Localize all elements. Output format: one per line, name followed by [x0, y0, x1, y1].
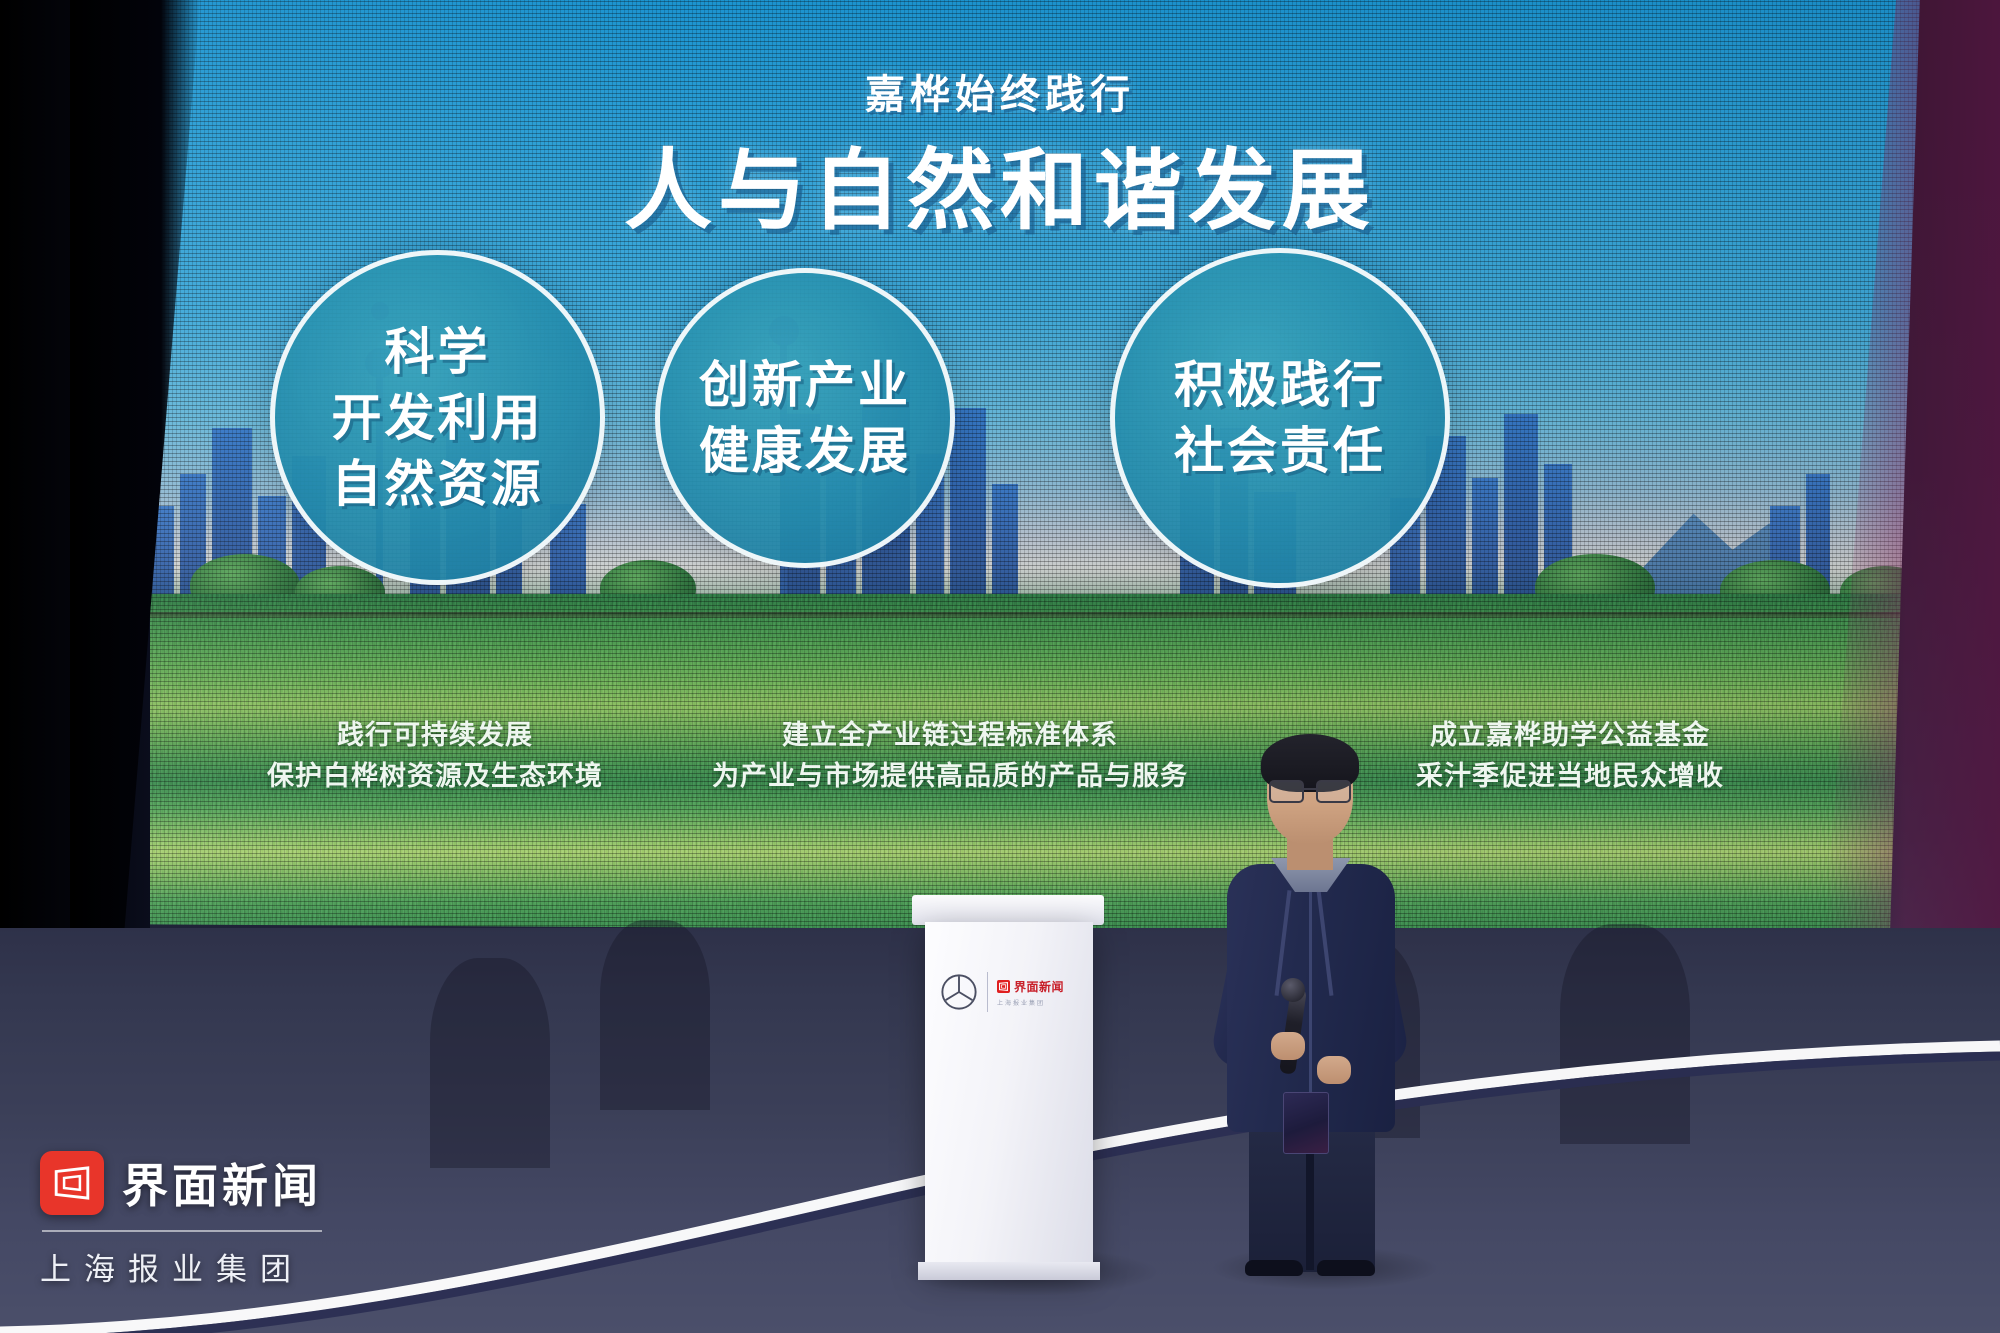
caption-2-line-1: 建立全产业链过程标准体系 — [690, 715, 1210, 756]
caption-charity: 成立嘉桦助学公益基金 采汁季促进当地民众增收 — [1360, 715, 1780, 796]
watermark: 界面新闻 上海报业集团 — [40, 1150, 322, 1289]
caption-1-line-1: 践行可持续发展 — [225, 715, 645, 756]
circle-1-line-2: 开发利用 — [332, 385, 544, 451]
glasses-icon — [1269, 780, 1351, 800]
slide-kicker: 嘉桦始终践行 — [0, 62, 2000, 120]
podium-base — [918, 1262, 1100, 1280]
podium-logo-group: 界面新闻 上海报业集团 — [940, 962, 1080, 1022]
caption-standards: 建立全产业链过程标准体系 为产业与市场提供高品质的产品与服务 — [690, 715, 1210, 796]
circle-1-line-1: 科学 — [385, 319, 491, 385]
circle-2-line-1: 创新产业 — [699, 352, 911, 418]
speaker-leg-gap — [1306, 1140, 1314, 1270]
jiemian-logo-icon — [997, 980, 1010, 993]
circle-1-line-3: 自然资源 — [332, 451, 544, 517]
podium-jiemian-logo: 界面新闻 上海报业集团 — [997, 978, 1064, 1007]
watermark-name: 界面新闻 — [122, 1150, 322, 1216]
lanyard-badge-icon — [1283, 1092, 1329, 1154]
circle-3-line-1: 积极践行 — [1174, 352, 1386, 418]
speaker-person — [1205, 740, 1415, 1270]
speaker-shoe-left — [1245, 1260, 1303, 1276]
podium-logo-divider — [987, 972, 988, 1012]
circle-innovation-industry: 创新产业 健康发展 — [655, 268, 955, 568]
podium-top — [912, 895, 1104, 925]
podium-brand-sub: 上海报业集团 — [997, 998, 1064, 1007]
caption-1-line-2: 保护白桦树资源及生态环境 — [225, 756, 645, 797]
speaker-hand-right — [1317, 1056, 1351, 1084]
caption-2-line-2: 为产业与市场提供高品质的产品与服务 — [690, 756, 1210, 797]
caption-sustainability: 践行可持续发展 保护白桦树资源及生态环境 — [225, 715, 645, 796]
caption-3-line-2: 采汁季促进当地民众增收 — [1360, 756, 1780, 797]
mercedes-benz-star-icon — [940, 973, 978, 1011]
circle-2-line-2: 健康发展 — [699, 418, 911, 484]
watermark-divider — [42, 1230, 322, 1232]
circle-3-line-2: 社会责任 — [1174, 418, 1386, 484]
slide-headline: 人与自然和谐发展 — [0, 120, 2000, 247]
jiemian-logo-icon — [40, 1151, 104, 1215]
caption-3-line-1: 成立嘉桦助学公益基金 — [1360, 715, 1780, 756]
stage-photo: 嘉桦始终践行 人与自然和谐发展 科学 开发利用 自然资源 创新产业 健康发展 积… — [0, 0, 2000, 1333]
watermark-sub: 上海报业集团 — [40, 1244, 322, 1289]
speaker-hand-left — [1271, 1032, 1305, 1060]
circle-social-responsibility: 积极践行 社会责任 — [1110, 248, 1450, 588]
speaker-shoe-right — [1317, 1260, 1375, 1276]
podium-brand-name: 界面新闻 — [1014, 978, 1064, 995]
circle-science-resources: 科学 开发利用 自然资源 — [270, 250, 605, 585]
